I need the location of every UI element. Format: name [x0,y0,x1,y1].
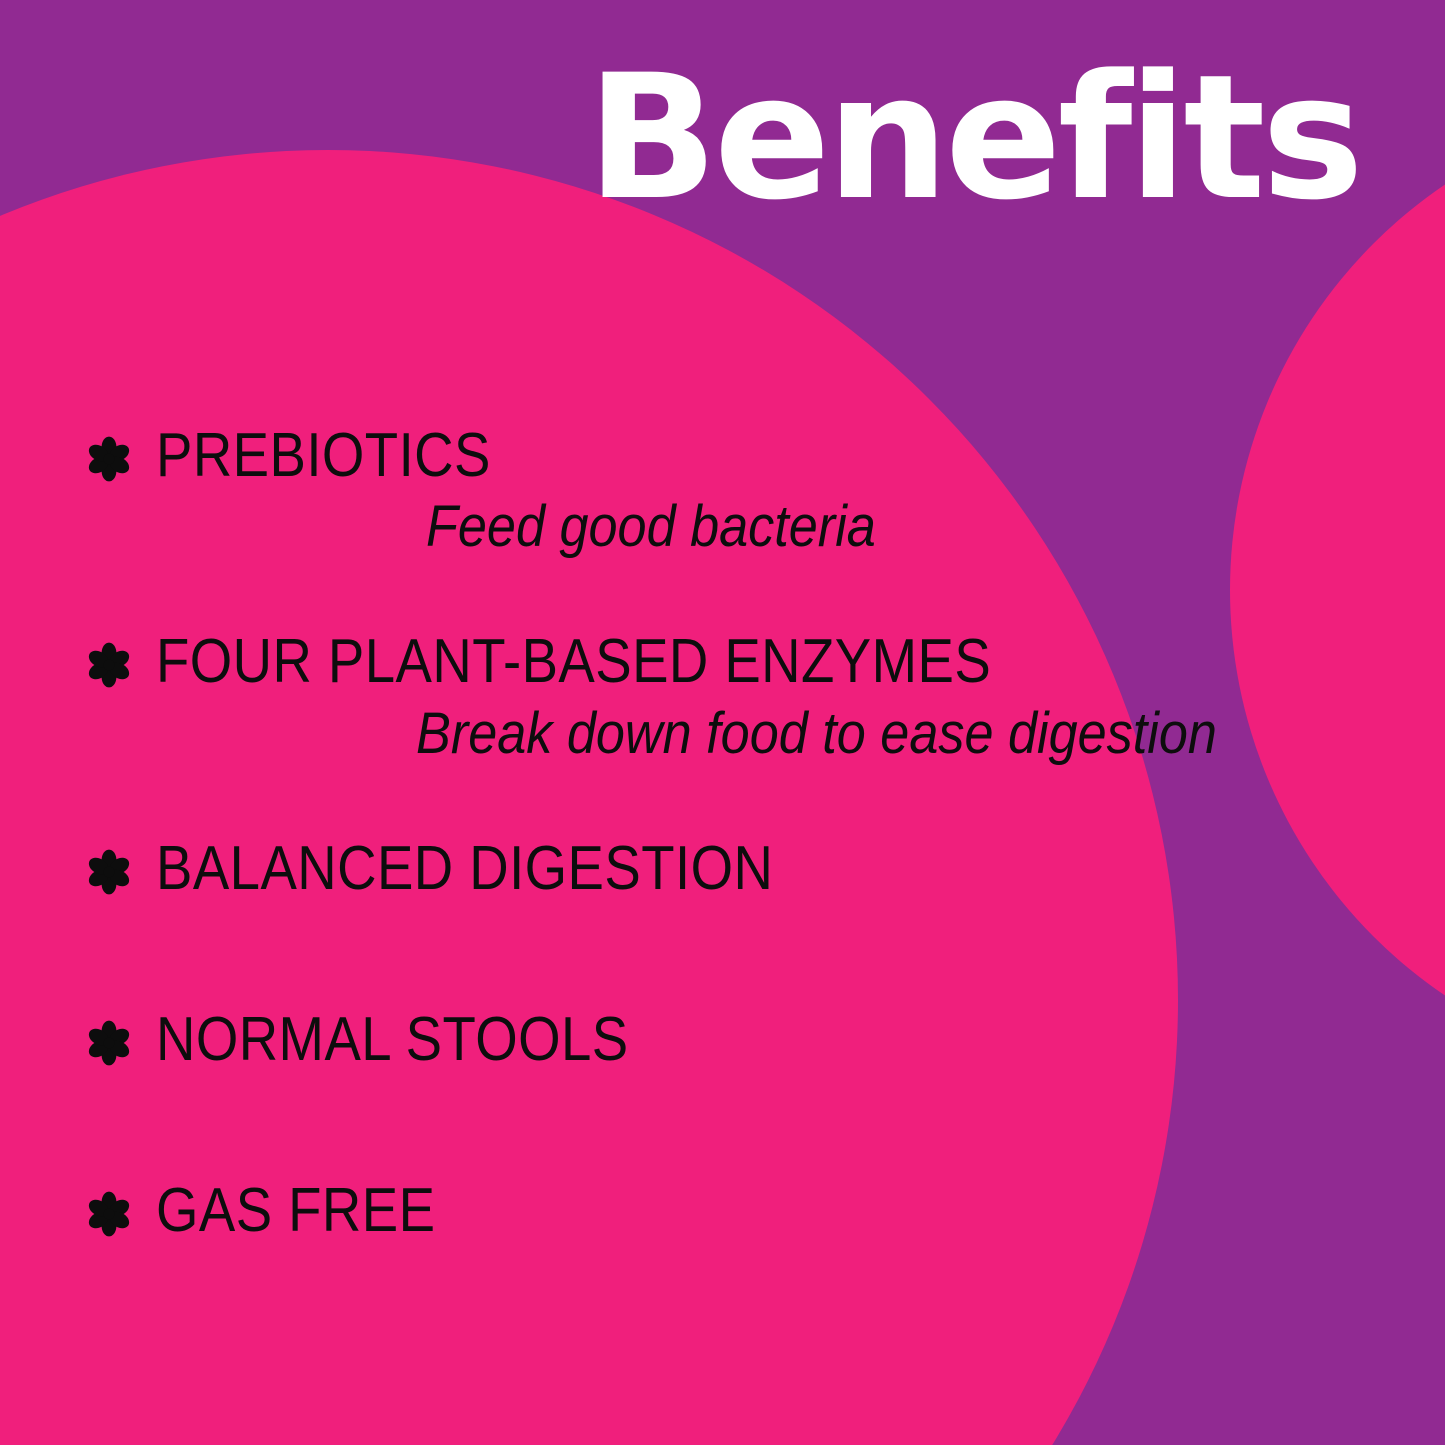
flower-bullet-icon [86,1020,132,1066]
spacer [86,1071,1386,1179]
flower-bullet-icon [86,642,132,688]
benefits-list: PREBIOTICS Feed good bacteria [86,424,1386,1242]
benefit-heading-row: GAS FREE [86,1179,1386,1242]
benefits-panel: Benefits [0,0,1445,1445]
flower-bullet-icon [86,1191,132,1237]
page-title: Benefits [587,52,1360,224]
benefit-label: NORMAL STOOLS [156,1008,629,1071]
benefit-label: BALANCED DIGESTION [156,837,773,900]
benefit-heading-row: FOUR PLANT-BASED ENZYMES [86,630,1386,693]
flower-bullet-icon [86,436,132,482]
benefit-heading-row: PREBIOTICS [86,424,1386,487]
flower-bullet-icon [86,849,132,895]
benefit-label: GAS FREE [156,1179,435,1242]
page-title-container: Benefits [0,52,1360,224]
benefit-heading-row: NORMAL STOOLS [86,1008,1386,1071]
benefit-heading-row: BALANCED DIGESTION [86,837,1386,900]
benefit-item-gas-free: GAS FREE [86,1179,1386,1242]
benefit-label: PREBIOTICS [156,424,491,487]
spacer [86,900,1386,1008]
benefit-subtext: Break down food to ease digestion [416,704,1289,763]
spacer [86,556,1386,630]
benefit-item-normal-stools: NORMAL STOOLS [86,1008,1386,1071]
benefit-subtext: Feed good bacteria [426,497,1290,556]
benefit-item-balanced-digestion: BALANCED DIGESTION [86,837,1386,900]
benefit-label: FOUR PLANT-BASED ENZYMES [156,630,991,693]
benefit-item-enzymes: FOUR PLANT-BASED ENZYMES Break down food… [86,630,1386,762]
spacer [86,763,1386,837]
benefit-item-prebiotics: PREBIOTICS Feed good bacteria [86,424,1386,556]
